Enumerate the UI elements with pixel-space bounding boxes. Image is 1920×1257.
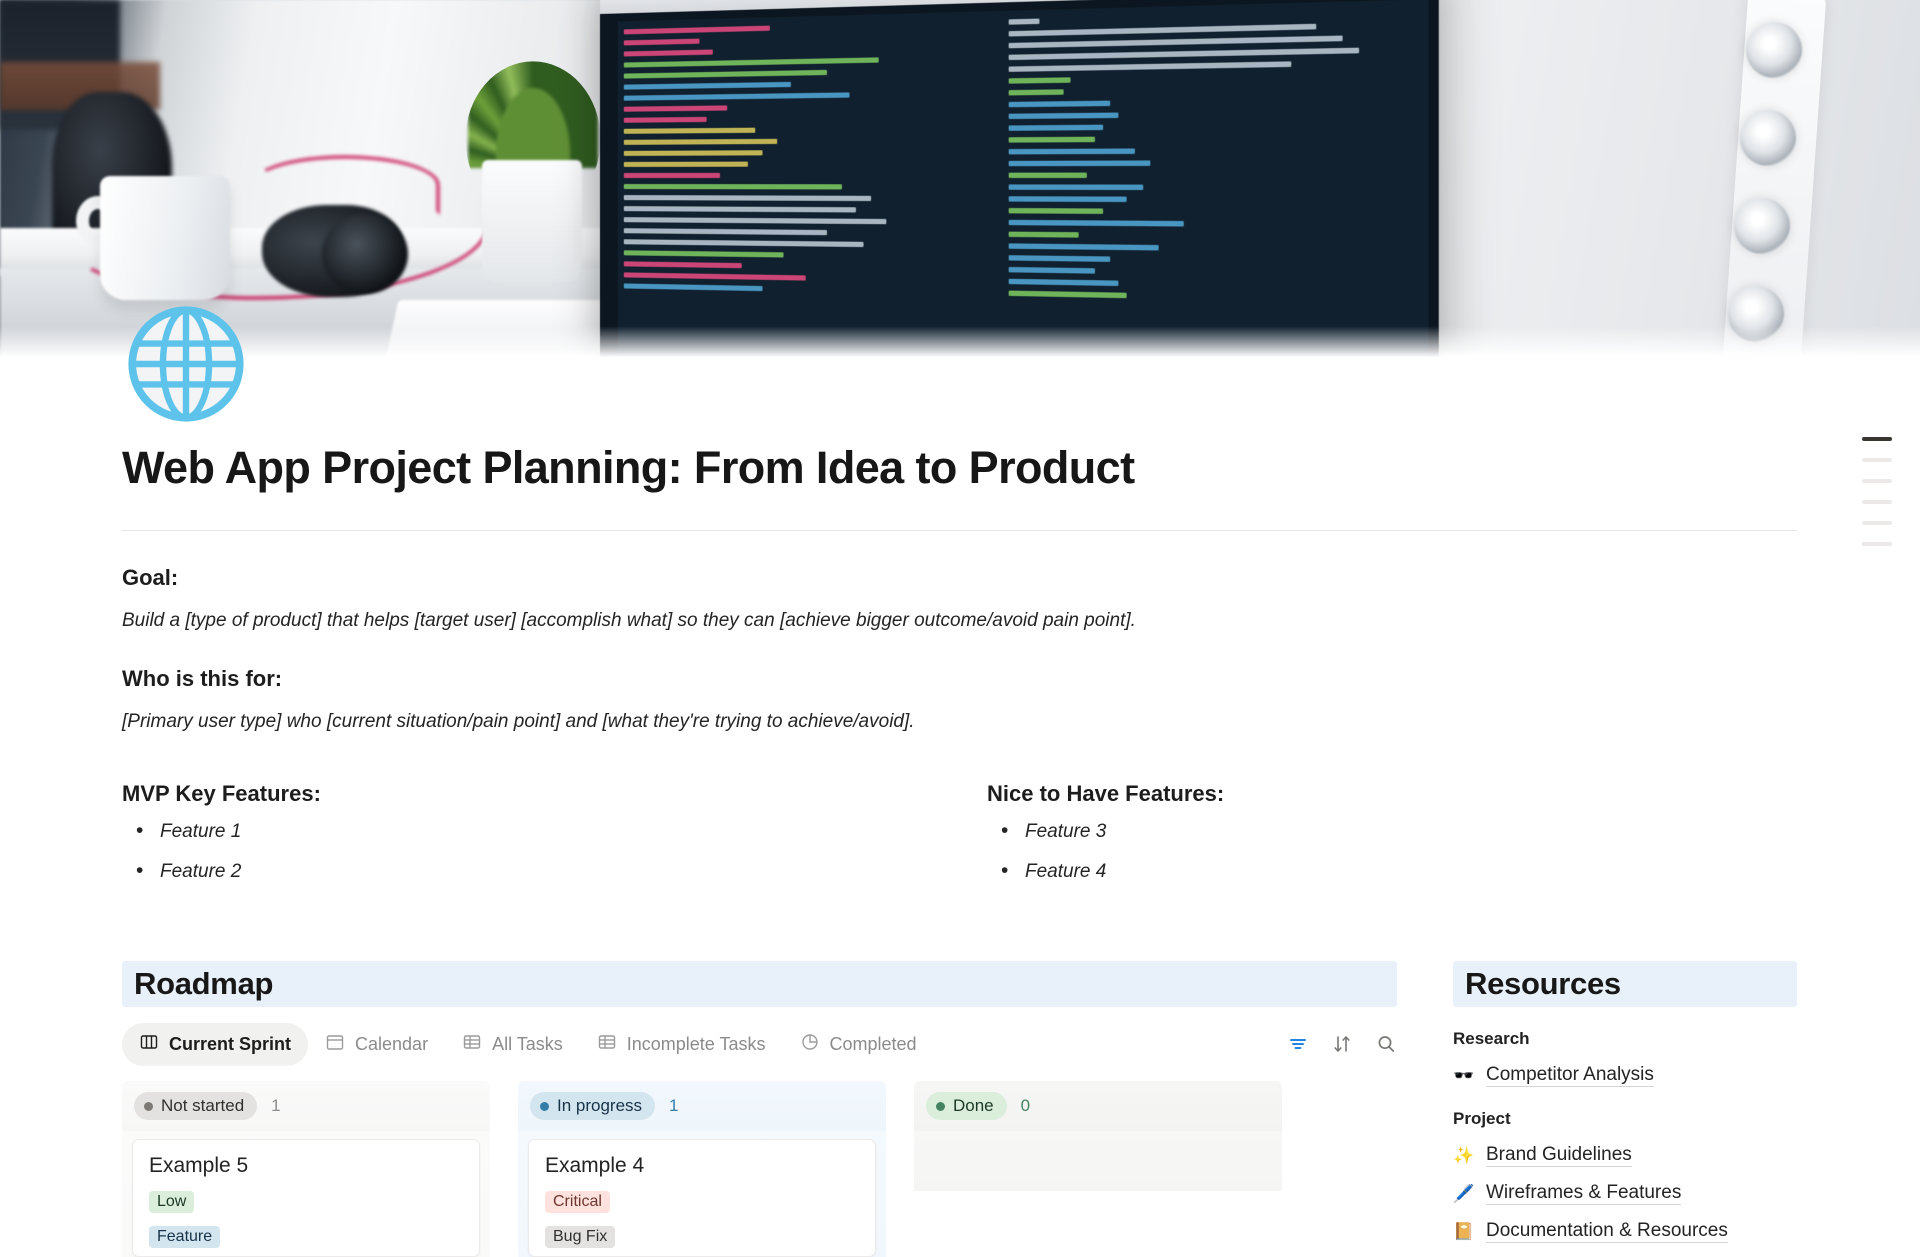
table-of-contents-rail[interactable]	[1862, 437, 1892, 546]
photo-lamp-2	[1740, 110, 1796, 166]
tab-completed[interactable]: Completed	[783, 1023, 934, 1066]
sunglasses-icon: 🕶️	[1453, 1066, 1475, 1086]
mvp-features-column: MVP Key Features: Feature 1 Feature 2	[122, 781, 987, 901]
resources-group-label: Project	[1453, 1109, 1797, 1129]
card-tag-priority: Low	[149, 1191, 194, 1213]
title-divider	[122, 530, 1797, 531]
column-body: Example 4 Critical Bug Fix	[518, 1131, 886, 1257]
photo-code-pane-right	[1002, 0, 1429, 360]
nice-list: Feature 3 Feature 4	[987, 821, 1687, 883]
list-item[interactable]: 📔 Documentation & Resources	[1453, 1220, 1797, 1243]
resources-panel: Resources Research 🕶️ Competitor Analysi…	[1453, 961, 1797, 1257]
tab-label: Completed	[830, 1034, 917, 1055]
document-body: Web App Project Planning: From Idea to P…	[0, 360, 1920, 1257]
resource-link[interactable]: Wireframes & Features	[1486, 1182, 1681, 1205]
column-count: 1	[669, 1096, 678, 1116]
notebook-icon: 📔	[1453, 1222, 1475, 1242]
status-dot	[144, 1102, 153, 1111]
tab-current-sprint[interactable]: Current Sprint	[122, 1023, 308, 1066]
photo-headphones-cup	[322, 214, 408, 294]
photo-monitor	[600, 0, 1439, 360]
tab-all-tasks[interactable]: All Tasks	[445, 1023, 580, 1066]
status-label: Not started	[161, 1096, 244, 1116]
status-dot	[936, 1102, 945, 1111]
search-icon[interactable]	[1375, 1033, 1397, 1055]
card-tag-type: Bug Fix	[545, 1226, 615, 1248]
tab-label: Calendar	[355, 1034, 428, 1055]
mvp-heading: MVP Key Features:	[122, 781, 987, 807]
status-badge: Done	[926, 1092, 1007, 1120]
roadmap-tabbar: Current Sprint	[122, 1023, 1397, 1065]
board-icon	[139, 1032, 159, 1057]
cover-fade	[0, 326, 1920, 360]
globe-icon[interactable]	[122, 300, 250, 428]
status-label: In progress	[557, 1096, 642, 1116]
kanban-column-not-started: Not started 1 Example 5 Low Feature	[122, 1081, 490, 1257]
mvp-list: Feature 1 Feature 2	[122, 821, 987, 883]
photo-mug	[100, 176, 230, 300]
nice-heading: Nice to Have Features:	[987, 781, 1687, 807]
toc-line[interactable]	[1862, 479, 1892, 483]
nice-to-have-column: Nice to Have Features: Feature 3 Feature…	[987, 781, 1687, 901]
card-title: Example 4	[545, 1154, 859, 1178]
toc-line[interactable]	[1862, 542, 1892, 546]
tab-label: Current Sprint	[169, 1034, 291, 1055]
column-body	[914, 1131, 1282, 1191]
list-item[interactable]: 🖊️ Wireframes & Features	[1453, 1182, 1797, 1205]
kanban-column-in-progress: In progress 1 Example 4 Critical Bug Fix	[518, 1081, 886, 1257]
toc-line-active[interactable]	[1862, 437, 1892, 441]
filter-icon[interactable]	[1287, 1033, 1309, 1055]
list-item[interactable]: Feature 4	[987, 861, 1687, 883]
status-badge: Not started	[134, 1092, 257, 1120]
pen-icon: 🖊️	[1453, 1184, 1475, 1204]
tab-calendar[interactable]: Calendar	[308, 1023, 445, 1066]
kanban-card[interactable]: Example 5 Low Feature	[132, 1139, 480, 1257]
tab-label: Incomplete Tasks	[627, 1034, 766, 1055]
list-item[interactable]: Feature 2	[122, 861, 987, 883]
column-header[interactable]: Done 0	[914, 1081, 1282, 1131]
list-item[interactable]: 🕶️ Competitor Analysis	[1453, 1064, 1797, 1087]
card-tag-type: Feature	[149, 1226, 220, 1248]
tab-incomplete-tasks[interactable]: Incomplete Tasks	[580, 1023, 783, 1066]
column-body: Example 5 Low Feature	[122, 1131, 490, 1257]
column-count: 1	[271, 1096, 280, 1116]
roadmap-title: Roadmap	[134, 966, 273, 1002]
roadmap-banner: Roadmap	[122, 961, 1397, 1007]
card-tag-priority: Critical	[545, 1191, 610, 1213]
audience-body[interactable]: [Primary user type] who [current situati…	[122, 711, 1797, 733]
card-title: Example 5	[149, 1154, 463, 1178]
audience-heading: Who is this for:	[122, 666, 1797, 692]
sparkles-icon: ✨	[1453, 1146, 1475, 1166]
toc-line[interactable]	[1862, 521, 1892, 525]
list-item[interactable]: ✨ Brand Guidelines	[1453, 1144, 1797, 1167]
cover-image[interactable]	[0, 0, 1920, 360]
resource-link[interactable]: Documentation & Resources	[1486, 1220, 1728, 1243]
roadmap-panel: Roadmap Current Sprint	[122, 961, 1397, 1257]
photo-plant-pot	[482, 160, 582, 282]
goal-body[interactable]: Build a [type of product] that helps [ta…	[122, 610, 1797, 632]
pie-chart-icon	[800, 1032, 820, 1057]
resources-title: Resources	[1465, 966, 1621, 1002]
kanban-card[interactable]: Example 4 Critical Bug Fix	[528, 1139, 876, 1257]
roadmap-actions	[1287, 1033, 1397, 1055]
kanban-column-done: Done 0	[914, 1081, 1282, 1257]
column-header[interactable]: Not started 1	[122, 1081, 490, 1131]
table-icon	[462, 1032, 482, 1057]
table-icon	[597, 1032, 617, 1057]
list-item[interactable]: Feature 3	[987, 821, 1687, 843]
photo-lamp-3	[1734, 198, 1790, 254]
features-columns: MVP Key Features: Feature 1 Feature 2 Ni…	[122, 781, 1797, 901]
list-item[interactable]: Feature 1	[122, 821, 987, 843]
column-count: 0	[1021, 1096, 1030, 1116]
resources-group-label: Research	[1453, 1029, 1797, 1049]
status-label: Done	[953, 1096, 994, 1116]
resource-link[interactable]: Competitor Analysis	[1486, 1064, 1654, 1087]
photo-lamp-1	[1746, 22, 1802, 78]
calendar-icon	[325, 1032, 345, 1057]
goal-heading: Goal:	[122, 565, 1797, 591]
column-header[interactable]: In progress 1	[518, 1081, 886, 1131]
photo-code-editor	[618, 0, 1429, 360]
resource-link[interactable]: Brand Guidelines	[1486, 1144, 1632, 1167]
cover-photo	[0, 0, 1920, 360]
page-title[interactable]: Web App Project Planning: From Idea to P…	[122, 442, 1797, 494]
resources-banner: Resources	[1453, 961, 1797, 1007]
toc-line[interactable]	[1862, 458, 1892, 462]
status-badge: In progress	[530, 1092, 655, 1120]
toc-line[interactable]	[1862, 500, 1892, 504]
tab-label: All Tasks	[492, 1034, 563, 1055]
sort-icon[interactable]	[1331, 1033, 1353, 1055]
photo-code-pane-left	[618, 11, 991, 360]
kanban-board: Not started 1 Example 5 Low Feature	[122, 1081, 1397, 1257]
status-dot	[540, 1102, 549, 1111]
lower-section: Roadmap Current Sprint	[122, 961, 1797, 1257]
